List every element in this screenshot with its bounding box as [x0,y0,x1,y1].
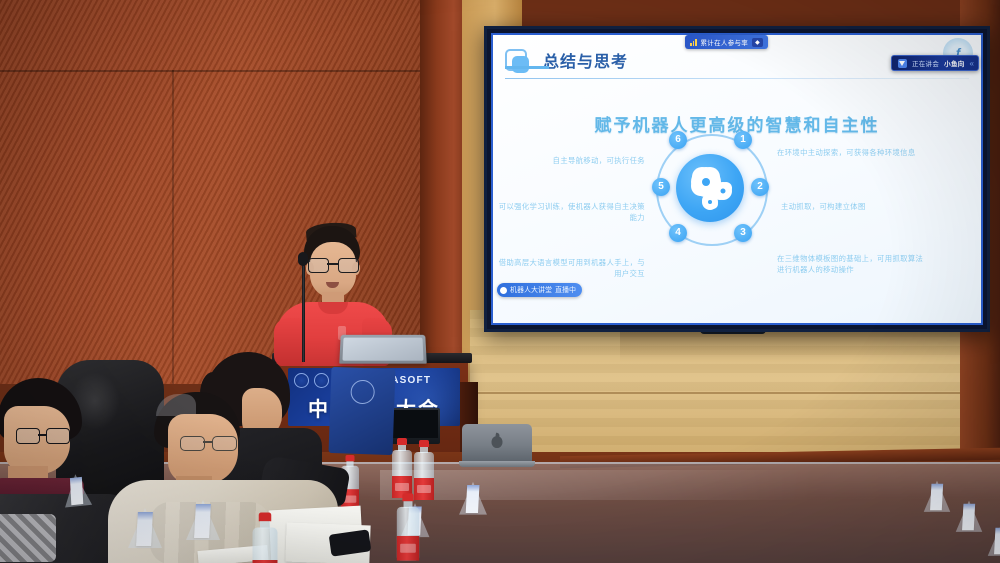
speaker-glasses-icon [307,258,359,271]
gear-icon-small [704,196,716,208]
emblem-icon-2 [314,373,329,388]
podium-laptop [339,335,427,364]
attendee-center-glasses-icon [180,436,238,449]
macbook-laptop [462,424,532,468]
folder-emblem-icon [350,380,375,405]
diagram-node-5: 5 [652,178,670,196]
right-overlay-banner: 正在讲会 小鱼向 « [891,55,979,71]
gear-icon-large [694,170,718,194]
name-card-holder [924,481,951,514]
circular-process-diagram: 1 2 3 4 5 6 [650,128,770,248]
top-overlay-banner: 累计在人参与率 ◆ [685,35,768,49]
chevron-left-icon: « [970,59,972,68]
diagram-node-1: 1 [734,131,752,149]
download-arrow-icon [898,59,907,68]
right-overlay-segment-1: 正在讲会 [912,58,939,68]
slide-section-title: 总结与思考 [543,48,628,72]
diagram-label-5: 可以强化学习训练，使机器人获得自主决策能力 [495,201,645,224]
wall-seam-horizontal [0,70,452,72]
water-bottle [253,513,278,563]
top-overlay-text: 累计在人参与率 [701,37,749,47]
rounded-square-icon [505,49,531,75]
water-bottle [392,438,412,498]
wall-seam-vertical [172,70,174,384]
apple-logo-icon [492,436,503,448]
microphone-icon [298,252,308,266]
name-card-holder [62,473,93,509]
diagram-label-3: 在三维物体模板图的基础上，可用抓取算法进行机器人的移动操作 [777,253,929,276]
conference-room-scene: 总结与思考 f 赋予机器人更高级的智慧和自主性 自主导航移动，可执行任务 可以强… [0,0,1000,563]
diagram-label-2: 主动抓取，可构建立体图 [781,201,931,212]
livestream-badge: 机器人大讲堂 直播中 [497,283,582,297]
livestream-badge-label: 机器人大讲堂 [510,285,552,295]
diagram-node-3: 3 [734,224,752,242]
name-card-holder [128,508,162,550]
attendee-left-glasses-icon [16,428,72,442]
top-overlay-chip: ◆ [752,38,763,47]
diagram-label-1: 在环境中主动探索，可获得各种环境信息 [777,147,927,158]
livestream-badge-sub: 直播中 [555,285,576,295]
name-card-holder [988,525,1000,558]
water-bottle [414,440,434,500]
bar-chart-icon [690,39,697,46]
diagram-label-6: 自主导航移动，可执行任务 [505,155,645,166]
name-card-holder [956,501,983,534]
live-dot-icon [500,287,507,294]
diagram-core [676,154,744,222]
diagram-node-4: 4 [669,224,687,242]
slide-canvas: 总结与思考 f 赋予机器人更高级的智慧和自主性 自主导航移动，可执行任务 可以强… [491,33,983,325]
diagram-node-2: 2 [751,178,769,196]
gear-icon-medium [716,184,730,198]
wall-back-seam [470,392,970,394]
diagram-label-4: 借助高层大语言模型可用到机器人手上，与用户交互 [495,257,645,280]
diagram-node-6: 6 [669,131,687,149]
presentation-display: 总结与思考 f 赋予机器人更高级的智慧和自主性 自主导航移动，可执行任务 可以强… [484,26,990,332]
name-card-holder [186,500,220,542]
slide-header-rule [505,78,969,79]
microphone-stem [302,258,305,362]
water-bottle [397,493,419,560]
name-card-holder [459,482,487,516]
right-overlay-segment-2: 小鱼向 [944,58,964,68]
